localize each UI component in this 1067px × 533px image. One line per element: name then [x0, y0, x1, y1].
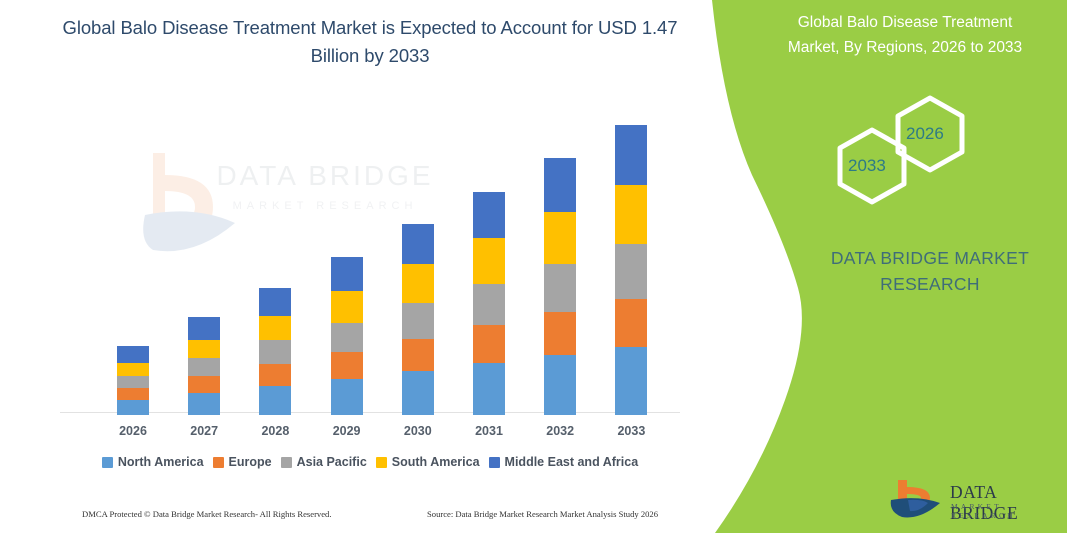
legend-swatch-icon	[102, 457, 113, 468]
bar-segment-asia-pacific	[259, 340, 291, 363]
logo-tagline: MARKET RESEARCH	[951, 502, 1063, 520]
x-axis-label-2030: 2030	[388, 424, 448, 438]
bar-segment-south-america	[402, 264, 434, 303]
bar-segment-south-america	[259, 316, 291, 341]
legend-label: South America	[392, 455, 480, 469]
bar-segment-middle-east-and-africa	[259, 288, 291, 316]
panel-brand-line1: DATA BRIDGE MARKET	[790, 245, 1067, 271]
legend-swatch-icon	[281, 457, 292, 468]
bar-2032	[544, 158, 576, 415]
x-axis-label-2029: 2029	[317, 424, 377, 438]
panel-title-line2: Market, By Regions, 2026 to 2033	[755, 35, 1055, 60]
bar-segment-asia-pacific	[331, 323, 363, 352]
bar-segment-north-america	[259, 386, 291, 415]
bar-segment-europe	[259, 364, 291, 386]
bar-chart-plot	[60, 110, 680, 415]
legend-item-middle-east-and-africa[interactable]: Middle East and Africa	[489, 455, 639, 469]
bar-segment-north-america	[615, 347, 647, 415]
x-axis-label-2031: 2031	[459, 424, 519, 438]
bar-segment-europe	[117, 388, 149, 400]
legend-label: Europe	[229, 455, 272, 469]
x-axis-labels: 20262027202820292030203120322033	[60, 424, 680, 444]
company-logo: DATA BRIDGE MARKET RESEARCH	[888, 478, 1063, 524]
infographic-canvas: Global Balo Disease Treatment Market is …	[0, 0, 1067, 533]
bar-2026	[117, 346, 149, 415]
bar-2029	[331, 257, 363, 415]
bar-segment-middle-east-and-africa	[331, 257, 363, 291]
bar-segment-north-america	[473, 363, 505, 415]
legend-swatch-icon	[489, 457, 500, 468]
footer-copyright: DMCA Protected © Data Bridge Market Rese…	[82, 509, 332, 519]
footer: DMCA Protected © Data Bridge Market Rese…	[0, 506, 700, 528]
bar-segment-south-america	[473, 238, 505, 283]
bar-2033	[615, 125, 647, 415]
hexagon-outlines-icon	[810, 90, 1010, 210]
bar-segment-south-america	[188, 340, 220, 359]
legend-swatch-icon	[213, 457, 224, 468]
bar-segment-asia-pacific	[615, 244, 647, 298]
data-bridge-logo-icon	[888, 478, 948, 522]
bar-segment-south-america	[615, 185, 647, 245]
bar-segment-north-america	[331, 379, 363, 415]
bar-segment-north-america	[544, 355, 576, 415]
bar-segment-middle-east-and-africa	[544, 158, 576, 211]
panel-title-line1: Global Balo Disease Treatment	[755, 10, 1055, 35]
bar-segment-europe	[188, 376, 220, 393]
bar-segment-north-america	[402, 371, 434, 415]
bar-2028	[259, 288, 291, 415]
legend-label: Asia Pacific	[297, 455, 367, 469]
bar-segment-europe	[544, 312, 576, 355]
panel-title: Global Balo Disease Treatment Market, By…	[755, 10, 1055, 60]
page-title: Global Balo Disease Treatment Market is …	[60, 14, 680, 70]
legend-item-asia-pacific[interactable]: Asia Pacific	[281, 455, 367, 469]
bar-segment-middle-east-and-africa	[473, 192, 505, 238]
bar-segment-middle-east-and-africa	[188, 317, 220, 339]
bar-segment-middle-east-and-africa	[117, 346, 149, 363]
bar-segment-asia-pacific	[188, 358, 220, 376]
legend-item-north-america[interactable]: North America	[102, 455, 204, 469]
bar-segment-north-america	[188, 393, 220, 415]
bar-segment-europe	[331, 352, 363, 379]
bar-segment-asia-pacific	[117, 376, 149, 388]
bar-2031	[473, 192, 505, 415]
footer-source: Source: Data Bridge Market Research Mark…	[427, 509, 658, 519]
bar-segment-europe	[402, 339, 434, 371]
chart-legend: North AmericaEuropeAsia PacificSouth Ame…	[60, 455, 680, 469]
hexagon-label-2033: 2033	[848, 156, 886, 176]
x-axis-label-2026: 2026	[103, 424, 163, 438]
legend-item-europe[interactable]: Europe	[213, 455, 272, 469]
hexagon-group: 2026 2033	[810, 90, 1010, 210]
x-axis-label-2032: 2032	[530, 424, 590, 438]
panel-brand-line2: RESEARCH	[790, 271, 1067, 297]
bar-segment-south-america	[544, 212, 576, 264]
bar-segment-north-america	[117, 400, 149, 415]
bar-2027	[188, 317, 220, 415]
legend-label: Middle East and Africa	[505, 455, 639, 469]
bar-segment-south-america	[117, 363, 149, 376]
chart-title-text: Global Balo Disease Treatment Market is …	[63, 17, 678, 66]
bar-segment-asia-pacific	[544, 264, 576, 312]
bar-segment-europe	[615, 299, 647, 347]
bar-segment-middle-east-and-africa	[615, 125, 647, 185]
x-axis-label-2028: 2028	[245, 424, 305, 438]
bar-segment-middle-east-and-africa	[402, 224, 434, 264]
legend-item-south-america[interactable]: South America	[376, 455, 480, 469]
bar-2030	[402, 224, 434, 415]
legend-swatch-icon	[376, 457, 387, 468]
bar-segment-south-america	[331, 291, 363, 323]
legend-label: North America	[118, 455, 204, 469]
bar-segment-asia-pacific	[402, 303, 434, 339]
panel-brand: DATA BRIDGE MARKET RESEARCH	[790, 245, 1067, 297]
bar-segment-europe	[473, 325, 505, 362]
x-axis-label-2033: 2033	[601, 424, 661, 438]
x-axis-label-2027: 2027	[174, 424, 234, 438]
bar-segment-asia-pacific	[473, 284, 505, 326]
hexagon-label-2026: 2026	[906, 124, 944, 144]
